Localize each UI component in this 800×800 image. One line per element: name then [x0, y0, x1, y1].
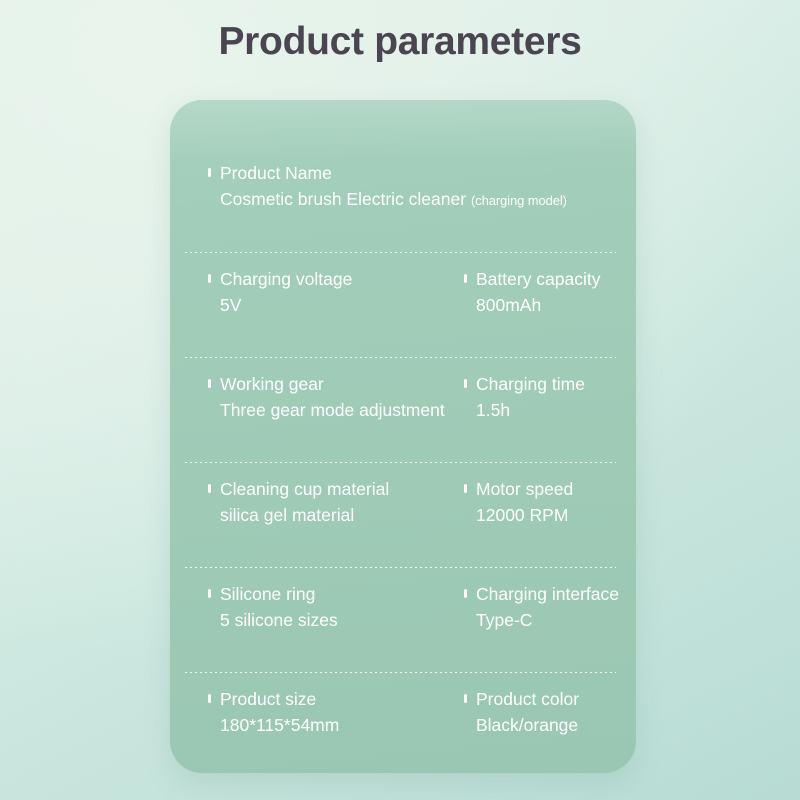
spec-label-text: Cleaning cup material: [220, 479, 389, 499]
spec-value: 800mAh: [464, 292, 636, 318]
tick-mark-bullet-icon: [464, 589, 467, 598]
product-parameters-card: Product Name Cosmetic brush Electric cle…: [170, 100, 636, 773]
spec-value: Type-C: [464, 607, 636, 633]
spec-label: Silicone ring: [208, 582, 464, 607]
spec-value-note: (charging model): [471, 193, 567, 208]
spec-label: Cleaning cup material: [208, 477, 464, 502]
spec-cell-product-name: Product Name Cosmetic brush Electric cle…: [208, 161, 616, 214]
spec-label: Battery capacity: [464, 267, 636, 292]
spec-value: 5 silicone sizes: [208, 607, 464, 633]
spec-cell-charging-time: Charging time 1.5h: [464, 372, 636, 423]
spec-label-text: Product Name: [220, 163, 332, 183]
spec-label: Charging interface: [464, 582, 636, 607]
spec-label-text: Product color: [476, 689, 579, 709]
tick-mark-bullet-icon: [208, 274, 211, 283]
spec-value: 180*115*54mm: [208, 712, 464, 738]
spec-cell-product-size: Product size 180*115*54mm: [208, 687, 464, 738]
spec-label-text: Charging time: [476, 374, 585, 394]
spec-cell-motor-speed: Motor speed 12000 RPM: [464, 477, 636, 528]
table-row: Silicone ring 5 silicone sizes Charging …: [170, 568, 636, 673]
spec-cell-working-gear: Working gear Three gear mode adjustment: [208, 372, 464, 423]
spec-cell-charging-interface: Charging interface Type-C: [464, 582, 636, 633]
spec-label-text: Battery capacity: [476, 269, 601, 289]
table-row: Product size 180*115*54mm Product color …: [170, 673, 636, 773]
tick-mark-bullet-icon: [208, 168, 211, 177]
spec-value: Cosmetic brush Electric cleaner (chargin…: [208, 186, 616, 214]
spec-label: Working gear: [208, 372, 464, 397]
spec-cell-product-color: Product color Black/orange: [464, 687, 636, 738]
tick-mark-bullet-icon: [208, 589, 211, 598]
spec-cell-cleaning-cup-material: Cleaning cup material silica gel materia…: [208, 477, 464, 528]
tick-mark-bullet-icon: [208, 484, 211, 493]
spec-label-text: Working gear: [220, 374, 324, 394]
spec-label-text: Charging interface: [476, 584, 619, 604]
table-row: Working gear Three gear mode adjustment …: [170, 358, 636, 463]
table-row: Charging voltage 5V Battery capacity 800…: [170, 253, 636, 358]
spec-cell-battery-capacity: Battery capacity 800mAh: [464, 267, 636, 318]
spec-label: Product color: [464, 687, 636, 712]
tick-mark-bullet-icon: [464, 694, 467, 703]
spec-label-text: Product size: [220, 689, 316, 709]
tick-mark-bullet-icon: [208, 379, 211, 388]
tick-mark-bullet-icon: [464, 274, 467, 283]
spec-label: Charging time: [464, 372, 636, 397]
spec-label-text: Motor speed: [476, 479, 573, 499]
tick-mark-bullet-icon: [208, 694, 211, 703]
spec-label-text: Silicone ring: [220, 584, 315, 604]
spec-label: Charging voltage: [208, 267, 464, 292]
spec-label: Motor speed: [464, 477, 636, 502]
spec-value: Three gear mode adjustment: [208, 397, 464, 423]
spec-row-list: Product Name Cosmetic brush Electric cle…: [170, 147, 636, 773]
tick-mark-bullet-icon: [464, 484, 467, 493]
spec-value: silica gel material: [208, 502, 464, 528]
table-row: Product Name Cosmetic brush Electric cle…: [170, 147, 636, 253]
spec-value: 1.5h: [464, 397, 636, 423]
spec-label: Product size: [208, 687, 464, 712]
spec-value: Black/orange: [464, 712, 636, 738]
spec-label-text: Charging voltage: [220, 269, 352, 289]
tick-mark-bullet-icon: [464, 379, 467, 388]
spec-value: 5V: [208, 292, 464, 318]
spec-cell-charging-voltage: Charging voltage 5V: [208, 267, 464, 318]
spec-cell-silicone-ring: Silicone ring 5 silicone sizes: [208, 582, 464, 633]
spec-value: 12000 RPM: [464, 502, 636, 528]
table-row: Cleaning cup material silica gel materia…: [170, 463, 636, 568]
spec-label: Product Name: [208, 161, 616, 186]
page-title: Product parameters: [0, 14, 800, 70]
spec-value-text: Cosmetic brush Electric cleaner: [220, 189, 466, 209]
